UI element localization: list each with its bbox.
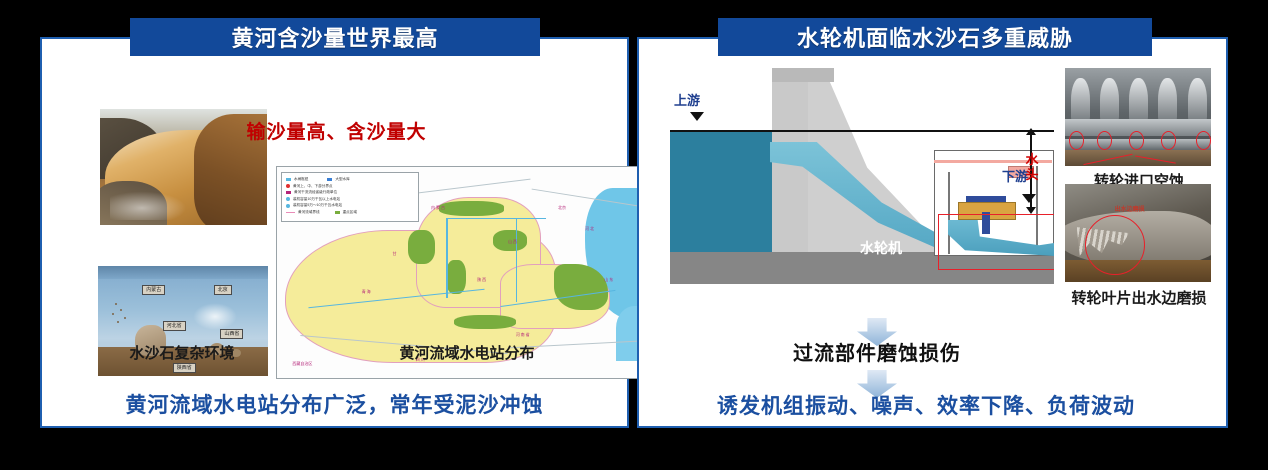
right-footer-text: 诱发机组振动、噪声、效率下降、负荷波动	[637, 390, 1215, 420]
key-area-1	[439, 201, 504, 216]
upstream-water-level-line	[670, 130, 1054, 132]
key-area-4	[446, 260, 465, 294]
left-panel-title-banner: 黄河含沙量世界最高	[130, 18, 540, 56]
legend-label-2: 黄河上、中、下游分界点	[293, 183, 333, 190]
turbine-highlight-box	[938, 214, 1054, 270]
label-suspended-sand: 北京	[214, 285, 232, 295]
upstream-level-marker-icon	[690, 112, 704, 121]
caption-sediment-environment: 水沙石复杂环境	[72, 342, 292, 363]
label-bedload: 河北省	[163, 321, 186, 331]
light-glow	[193, 303, 237, 329]
dam-crest	[772, 68, 834, 82]
water-surface	[98, 266, 268, 279]
left-panel: 内蒙古 北京 河北省 山西省 陕西省 输沙量高、含沙量大	[40, 37, 629, 428]
river-course-5	[516, 218, 517, 302]
runner-inlet-cavitation-photo	[1065, 68, 1211, 166]
key-area-2	[408, 230, 435, 264]
label-gravel: 山西省	[220, 329, 243, 339]
right-middle-text: 过流部件磨蚀损伤	[637, 337, 1117, 366]
legend-label-6: 黄河流域界线	[298, 209, 320, 216]
label-head: 水头	[1024, 152, 1040, 182]
legend-label-1: 大型水库	[335, 176, 349, 183]
photo-water-glare	[110, 190, 190, 220]
slide-canvas: 内蒙古 北京 河北省 山西省 陕西省 输沙量高、含沙量大	[0, 0, 1268, 470]
map-legend: 水闸枢纽 大型水库 黄河上、中、下游分界点 黄河干流流经省级行政单位 装机容量1…	[281, 172, 419, 222]
legend-label-4: 装机容量10万千瓦以上水电站	[293, 196, 340, 203]
legend-label-3: 黄河干流流经省级行政单位	[294, 189, 337, 196]
red-heading: 输沙量高、含沙量大	[42, 117, 631, 144]
label-upstream: 上游	[674, 90, 700, 109]
left-footer-text: 黄河流域水电站分布广泛，常年受泥沙冲蚀	[42, 389, 627, 419]
legend-label-7: 重点区域	[343, 209, 357, 216]
upstream-reservoir-water	[670, 130, 780, 252]
caption-basin-map: 黄河流域水电站分布	[322, 342, 612, 363]
right-panel-title-banner: 水轮机面临水沙石多重威胁	[718, 18, 1152, 56]
legend-label-5: 装机容量5万～10万千瓦水电站	[293, 202, 342, 209]
river-course-2	[446, 218, 546, 219]
key-area-5	[454, 315, 516, 330]
river-course-3	[446, 218, 447, 298]
downstream-level-marker-icon	[1022, 194, 1036, 203]
legend-label-0: 水闸枢纽	[294, 176, 308, 183]
caption-blade-wear: 转轮叶片出水边磨损	[1050, 287, 1228, 308]
label-water: 内蒙古	[142, 285, 165, 295]
runner-blade-outlet-wear-photo: 出水边磨损	[1065, 184, 1211, 282]
label-riverbed: 陕西省	[173, 363, 196, 373]
hydropower-cross-section-diagram: 上游 下游 水头 水轮机	[652, 62, 1054, 310]
annotation-outlet-wear: 出水边磨损	[1115, 204, 1145, 213]
label-turbine: 水轮机	[860, 238, 902, 258]
